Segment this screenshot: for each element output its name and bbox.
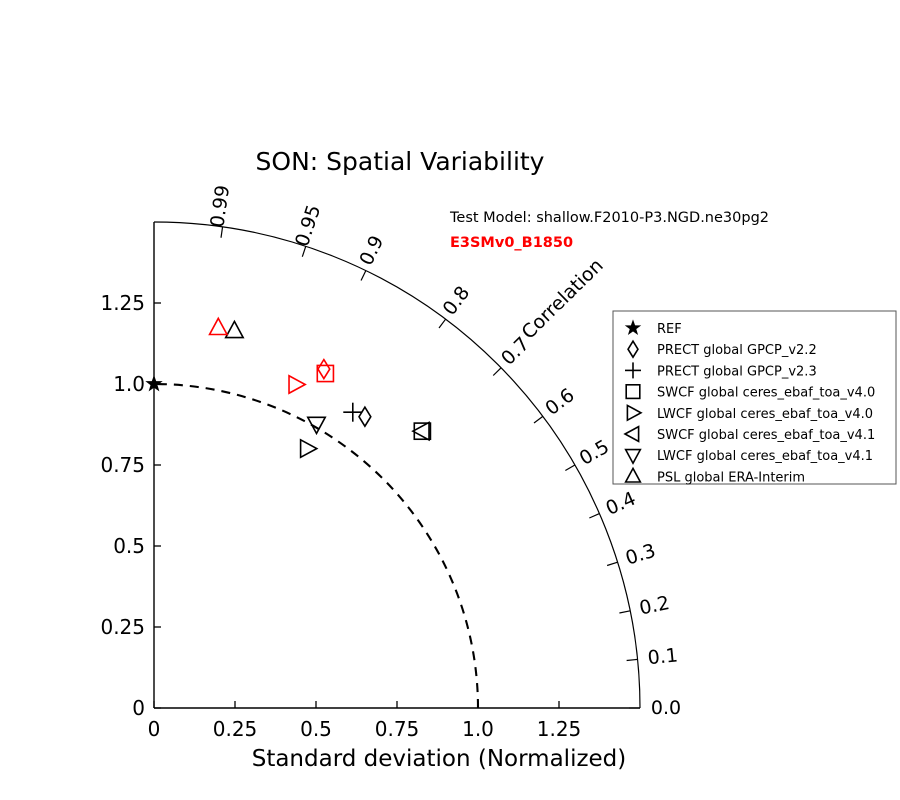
chart-title: SON: Spatial Variability — [256, 147, 545, 176]
correlation-tick-label: 0.4 — [603, 488, 639, 520]
data-point-marker — [413, 422, 429, 439]
correlation-tick-label: 0.0 — [651, 697, 681, 719]
correlation-tick — [627, 659, 638, 660]
x-tick-label: 1.25 — [537, 717, 582, 741]
correlation-tick — [439, 319, 446, 328]
correlation-tick-label: 0.8 — [439, 282, 475, 319]
correlation-tick-label: 0.1 — [647, 644, 679, 669]
x-tick-label: 0.75 — [375, 717, 420, 741]
y-tick-label: 0.5 — [113, 534, 145, 558]
data-point-marker — [301, 440, 317, 457]
data-point-marker — [359, 407, 371, 426]
y-tick-label: 1.0 — [113, 372, 145, 396]
correlation-tick-label: 0.2 — [637, 592, 671, 620]
x-tick-label: 0.25 — [213, 717, 258, 741]
y-tick-label: 0.75 — [100, 453, 145, 477]
correlation-tick-label: 0.5 — [576, 436, 613, 470]
data-point-marker — [308, 417, 325, 433]
legend-label: LWCF global ceres_ebaf_toa_v4.0 — [657, 407, 873, 422]
legend-label: PSL global ERA-Interim — [657, 470, 805, 485]
test-model-annotation: Test Model: shallow.F2010-P3.NGD.ne30pg2 — [449, 210, 769, 226]
ref-model-annotation: E3SMv0_B1850 — [450, 235, 573, 251]
x-tick-label: 0.5 — [300, 717, 332, 741]
taylor-diagram-figure: SON: Spatial Variability00.250.50.751.01… — [0, 0, 900, 800]
correlation-tick-label: 0.3 — [623, 540, 658, 570]
legend-label: LWCF global ceres_ebaf_toa_v4.1 — [657, 449, 873, 464]
data-point-marker — [226, 321, 243, 337]
y-tick-label: 0 — [132, 696, 145, 720]
correlation-tick-label: 0.9 — [355, 232, 388, 269]
correlation-tick — [619, 611, 630, 613]
figure-canvas: SON: Spatial Variability00.250.50.751.01… — [0, 0, 900, 800]
correlation-tick-label: 0.95 — [291, 202, 325, 249]
x-axis-label: Standard deviation (Normalized) — [252, 746, 627, 772]
legend-label: PRECT global GPCP_v2.3 — [657, 364, 817, 379]
angular-axis-label: Correlation — [517, 255, 607, 344]
legend-label: SWCF global ceres_ebaf_toa_v4.0 — [657, 386, 875, 401]
y-tick-label: 1.25 — [100, 291, 145, 315]
legend-label: SWCF global ceres_ebaf_toa_v4.1 — [657, 428, 875, 443]
data-point-marker — [289, 376, 305, 393]
legend-label: PRECT global GPCP_v2.2 — [657, 343, 817, 358]
data-point-marker — [210, 318, 227, 334]
x-tick-label: 0 — [148, 717, 161, 741]
correlation-tick — [493, 368, 501, 376]
legend-label: REF — [657, 322, 682, 337]
y-tick-label: 0.25 — [100, 615, 145, 639]
correlation-tick — [534, 416, 543, 423]
correlation-tick — [565, 465, 575, 471]
data-point-marker — [318, 360, 330, 379]
correlation-tick — [607, 562, 617, 565]
correlation-tick-label: 0.99 — [206, 184, 234, 229]
correlation-tick-label: 0.6 — [541, 384, 578, 420]
x-tick-label: 1.0 — [462, 717, 494, 741]
correlation-tick — [361, 271, 366, 281]
correlation-tick — [589, 514, 599, 518]
data-point-marker — [317, 365, 333, 381]
